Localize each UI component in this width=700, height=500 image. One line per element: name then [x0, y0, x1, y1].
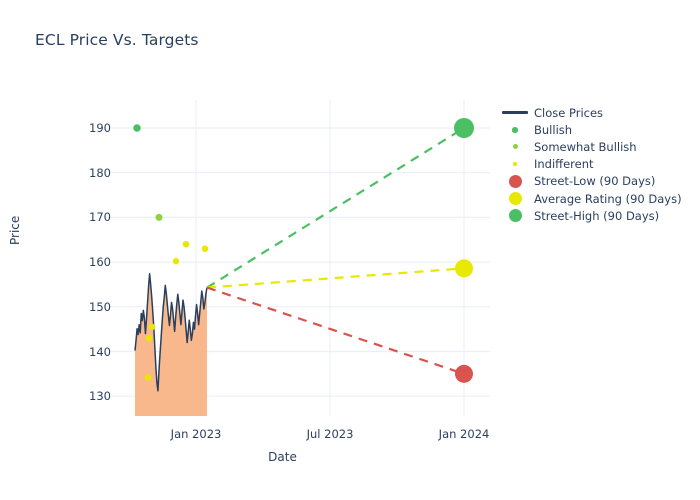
legend-dot-icon	[500, 209, 530, 222]
legend-dot-swatch	[509, 192, 522, 205]
plot-area	[0, 0, 700, 500]
legend-item-label: Bullish	[530, 123, 572, 137]
legend-item-label: Indifferent	[530, 157, 594, 171]
legend-line-swatch	[502, 111, 528, 114]
legend-dot-icon	[500, 162, 530, 167]
legend-item[interactable]: Average Rating (90 Days)	[500, 190, 695, 207]
legend-dot-icon	[500, 127, 530, 133]
legend-dot-icon	[500, 144, 530, 149]
legend-item-label: Street-High (90 Days)	[530, 209, 659, 223]
legend-dot-swatch	[509, 209, 522, 222]
legend-item-label: Somewhat Bullish	[530, 140, 637, 154]
chart-legend[interactable]: Close PricesBullishSomewhat BullishIndif…	[500, 104, 695, 224]
legend-dot-swatch	[513, 144, 518, 149]
legend-item-label: Street-Low (90 Days)	[530, 174, 655, 188]
legend-item[interactable]: Bullish	[500, 121, 695, 138]
legend-item[interactable]: Street-Low (90 Days)	[500, 173, 695, 190]
legend-dot-icon	[500, 192, 530, 205]
chart-container: ECL Price Vs. Targets Price Date 190 180…	[0, 0, 700, 500]
legend-dot-icon	[500, 175, 530, 188]
legend-dot-swatch	[512, 127, 518, 133]
target-projection-lines	[207, 128, 464, 374]
legend-item-label: Average Rating (90 Days)	[530, 192, 682, 206]
legend-item[interactable]: Close Prices	[500, 104, 695, 121]
legend-item[interactable]: Somewhat Bullish	[500, 138, 695, 155]
legend-item[interactable]: Street-High (90 Days)	[500, 207, 695, 224]
legend-dot-swatch	[513, 162, 518, 167]
legend-line-icon	[500, 111, 530, 114]
legend-item[interactable]: Indifferent	[500, 156, 695, 173]
legend-item-label: Close Prices	[530, 106, 603, 120]
legend-dot-swatch	[509, 175, 522, 188]
